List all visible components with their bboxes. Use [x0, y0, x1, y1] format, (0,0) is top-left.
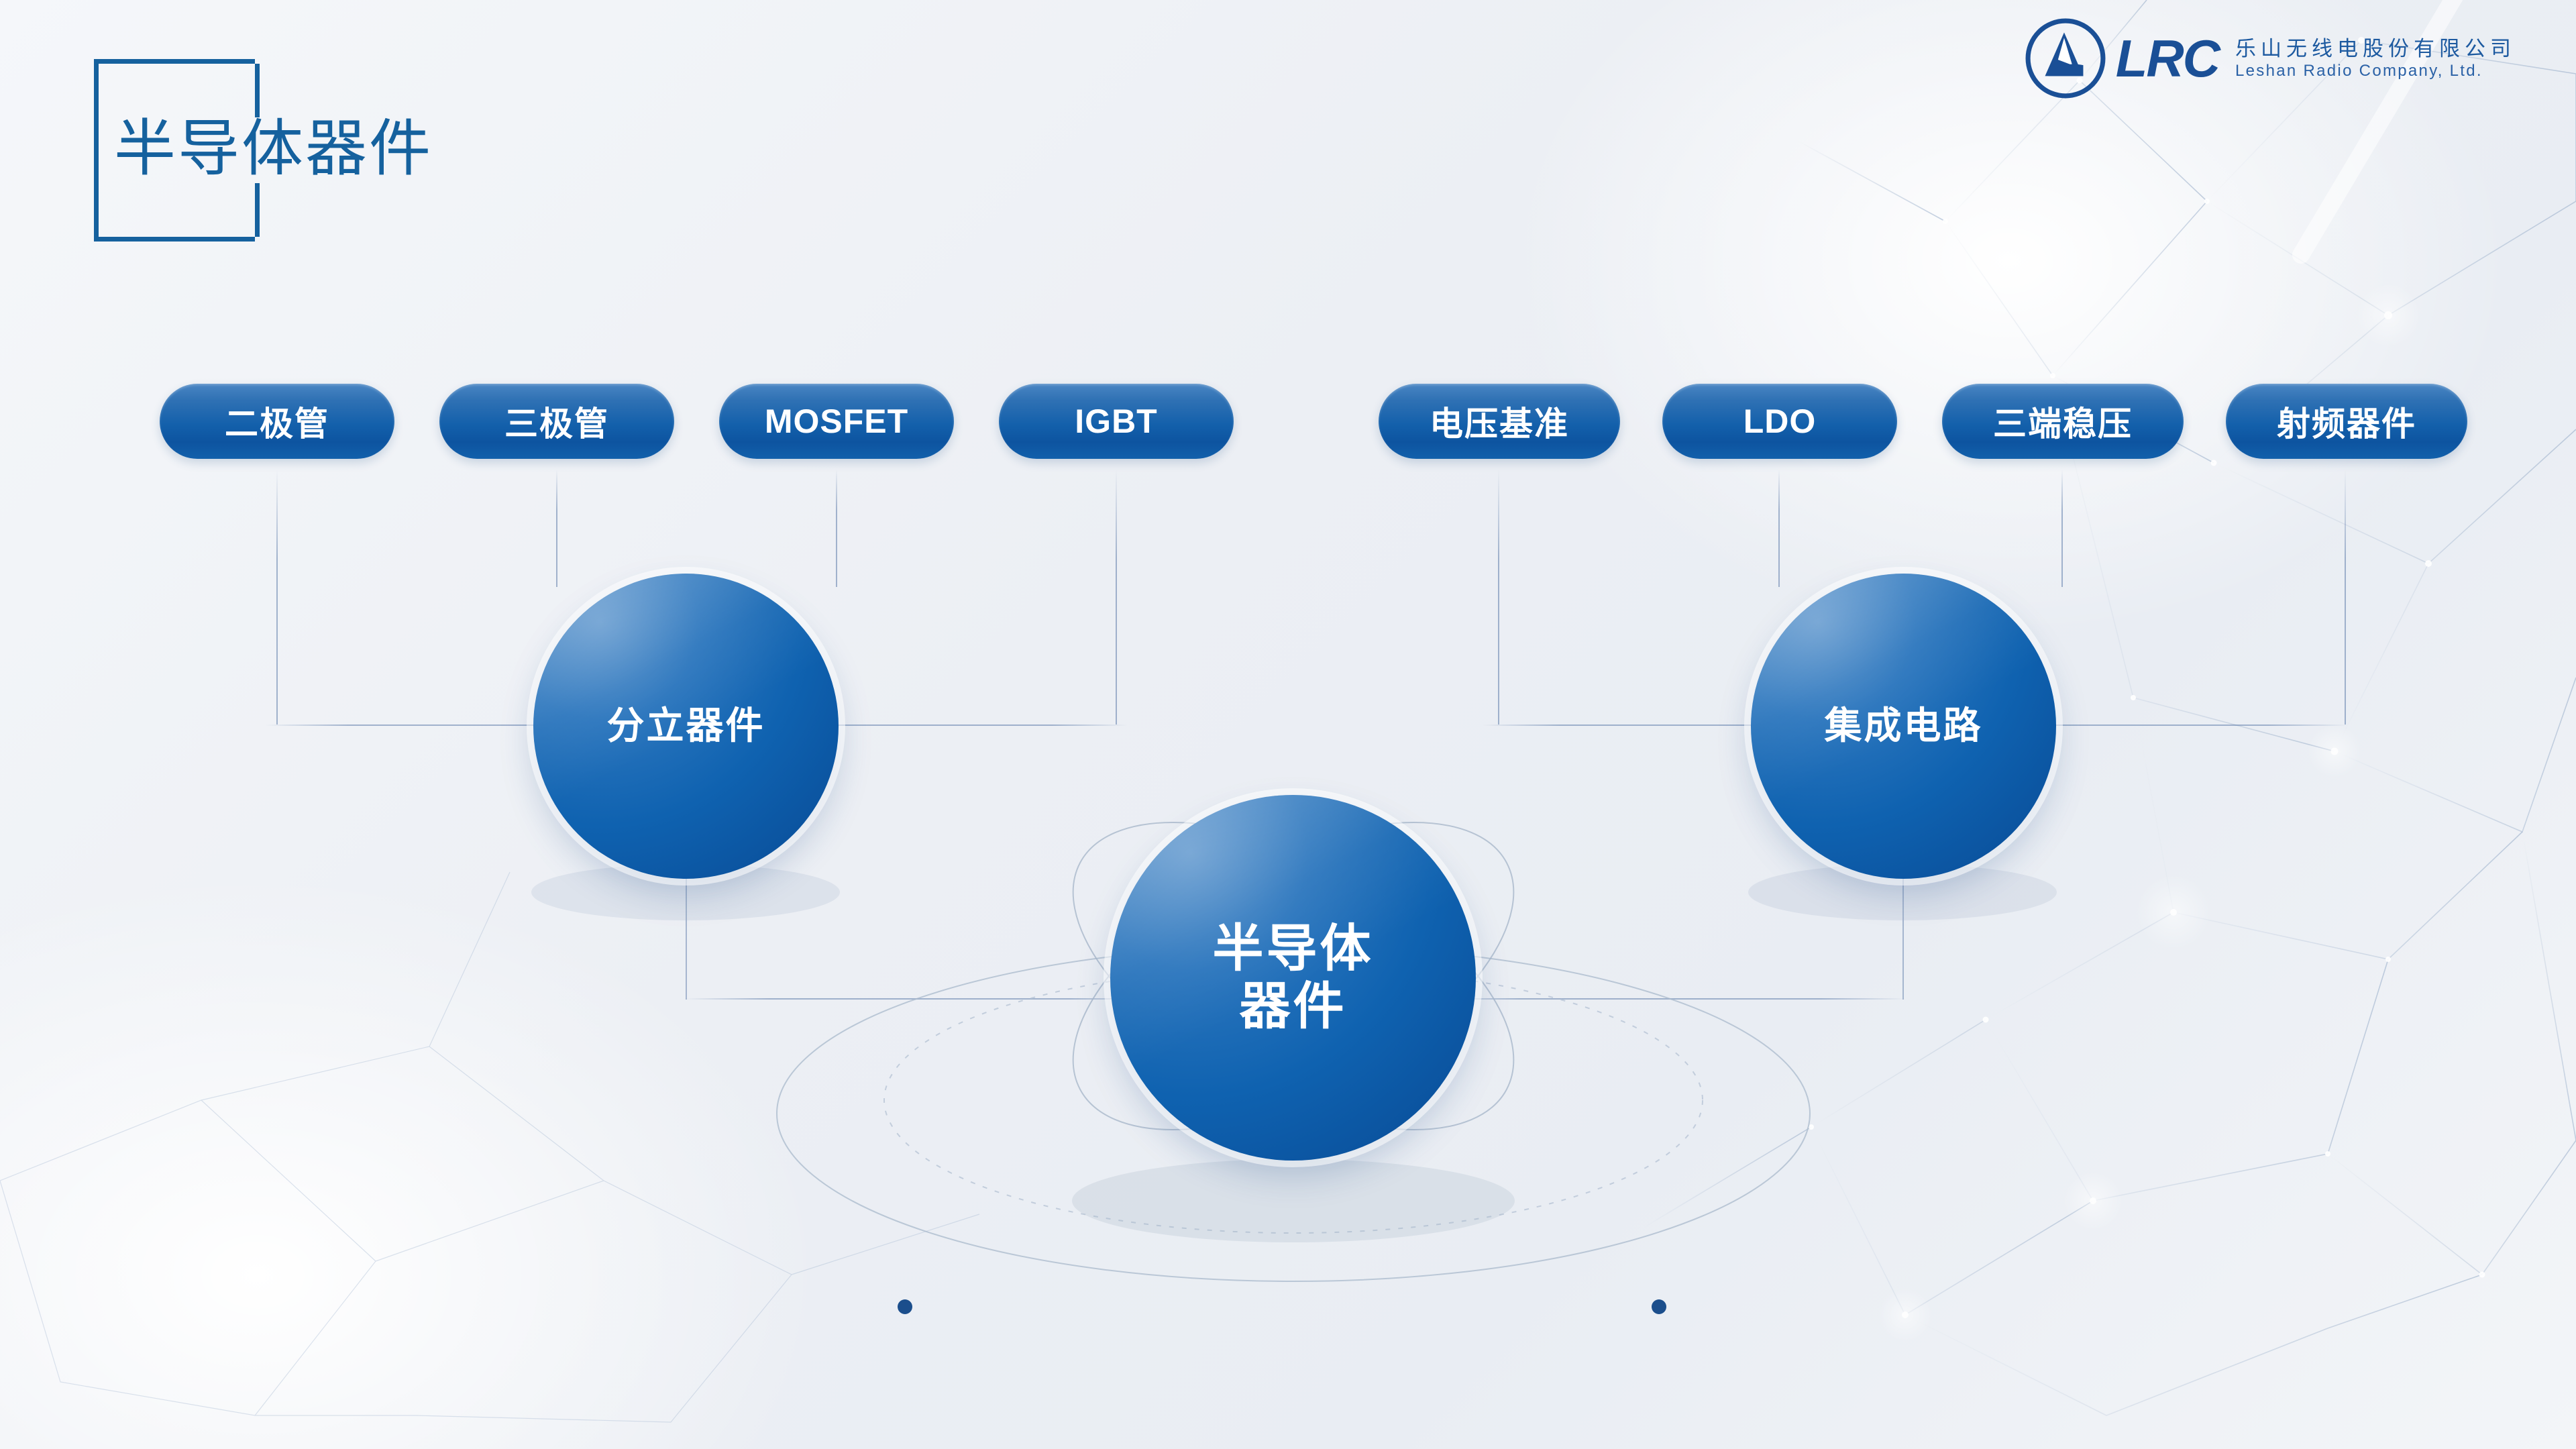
node-center-label: 半导体 器件 [1213, 920, 1374, 1034]
node-discrete-devices[interactable]: 分立器件 [533, 574, 839, 879]
node-semiconductor-devices[interactable]: 半导体 器件 [1110, 795, 1476, 1161]
node-integrated-circuit[interactable]: 集成电路 [1751, 574, 2056, 879]
node-discrete-devices-label: 分立器件 [607, 705, 765, 747]
node-center-label-line1: 半导体 [1213, 920, 1374, 977]
node-center-label-line2: 器件 [1240, 978, 1347, 1035]
node-spheres: 分立器件 集成电路 半导体 器件 [0, 0, 2576, 1449]
node-integrated-circuit-label: 集成电路 [1825, 705, 1983, 747]
slide-canvas: 半导体器件 LRC 乐山无线电股份有限公司 Leshan Radio Compa… [0, 0, 2576, 1449]
